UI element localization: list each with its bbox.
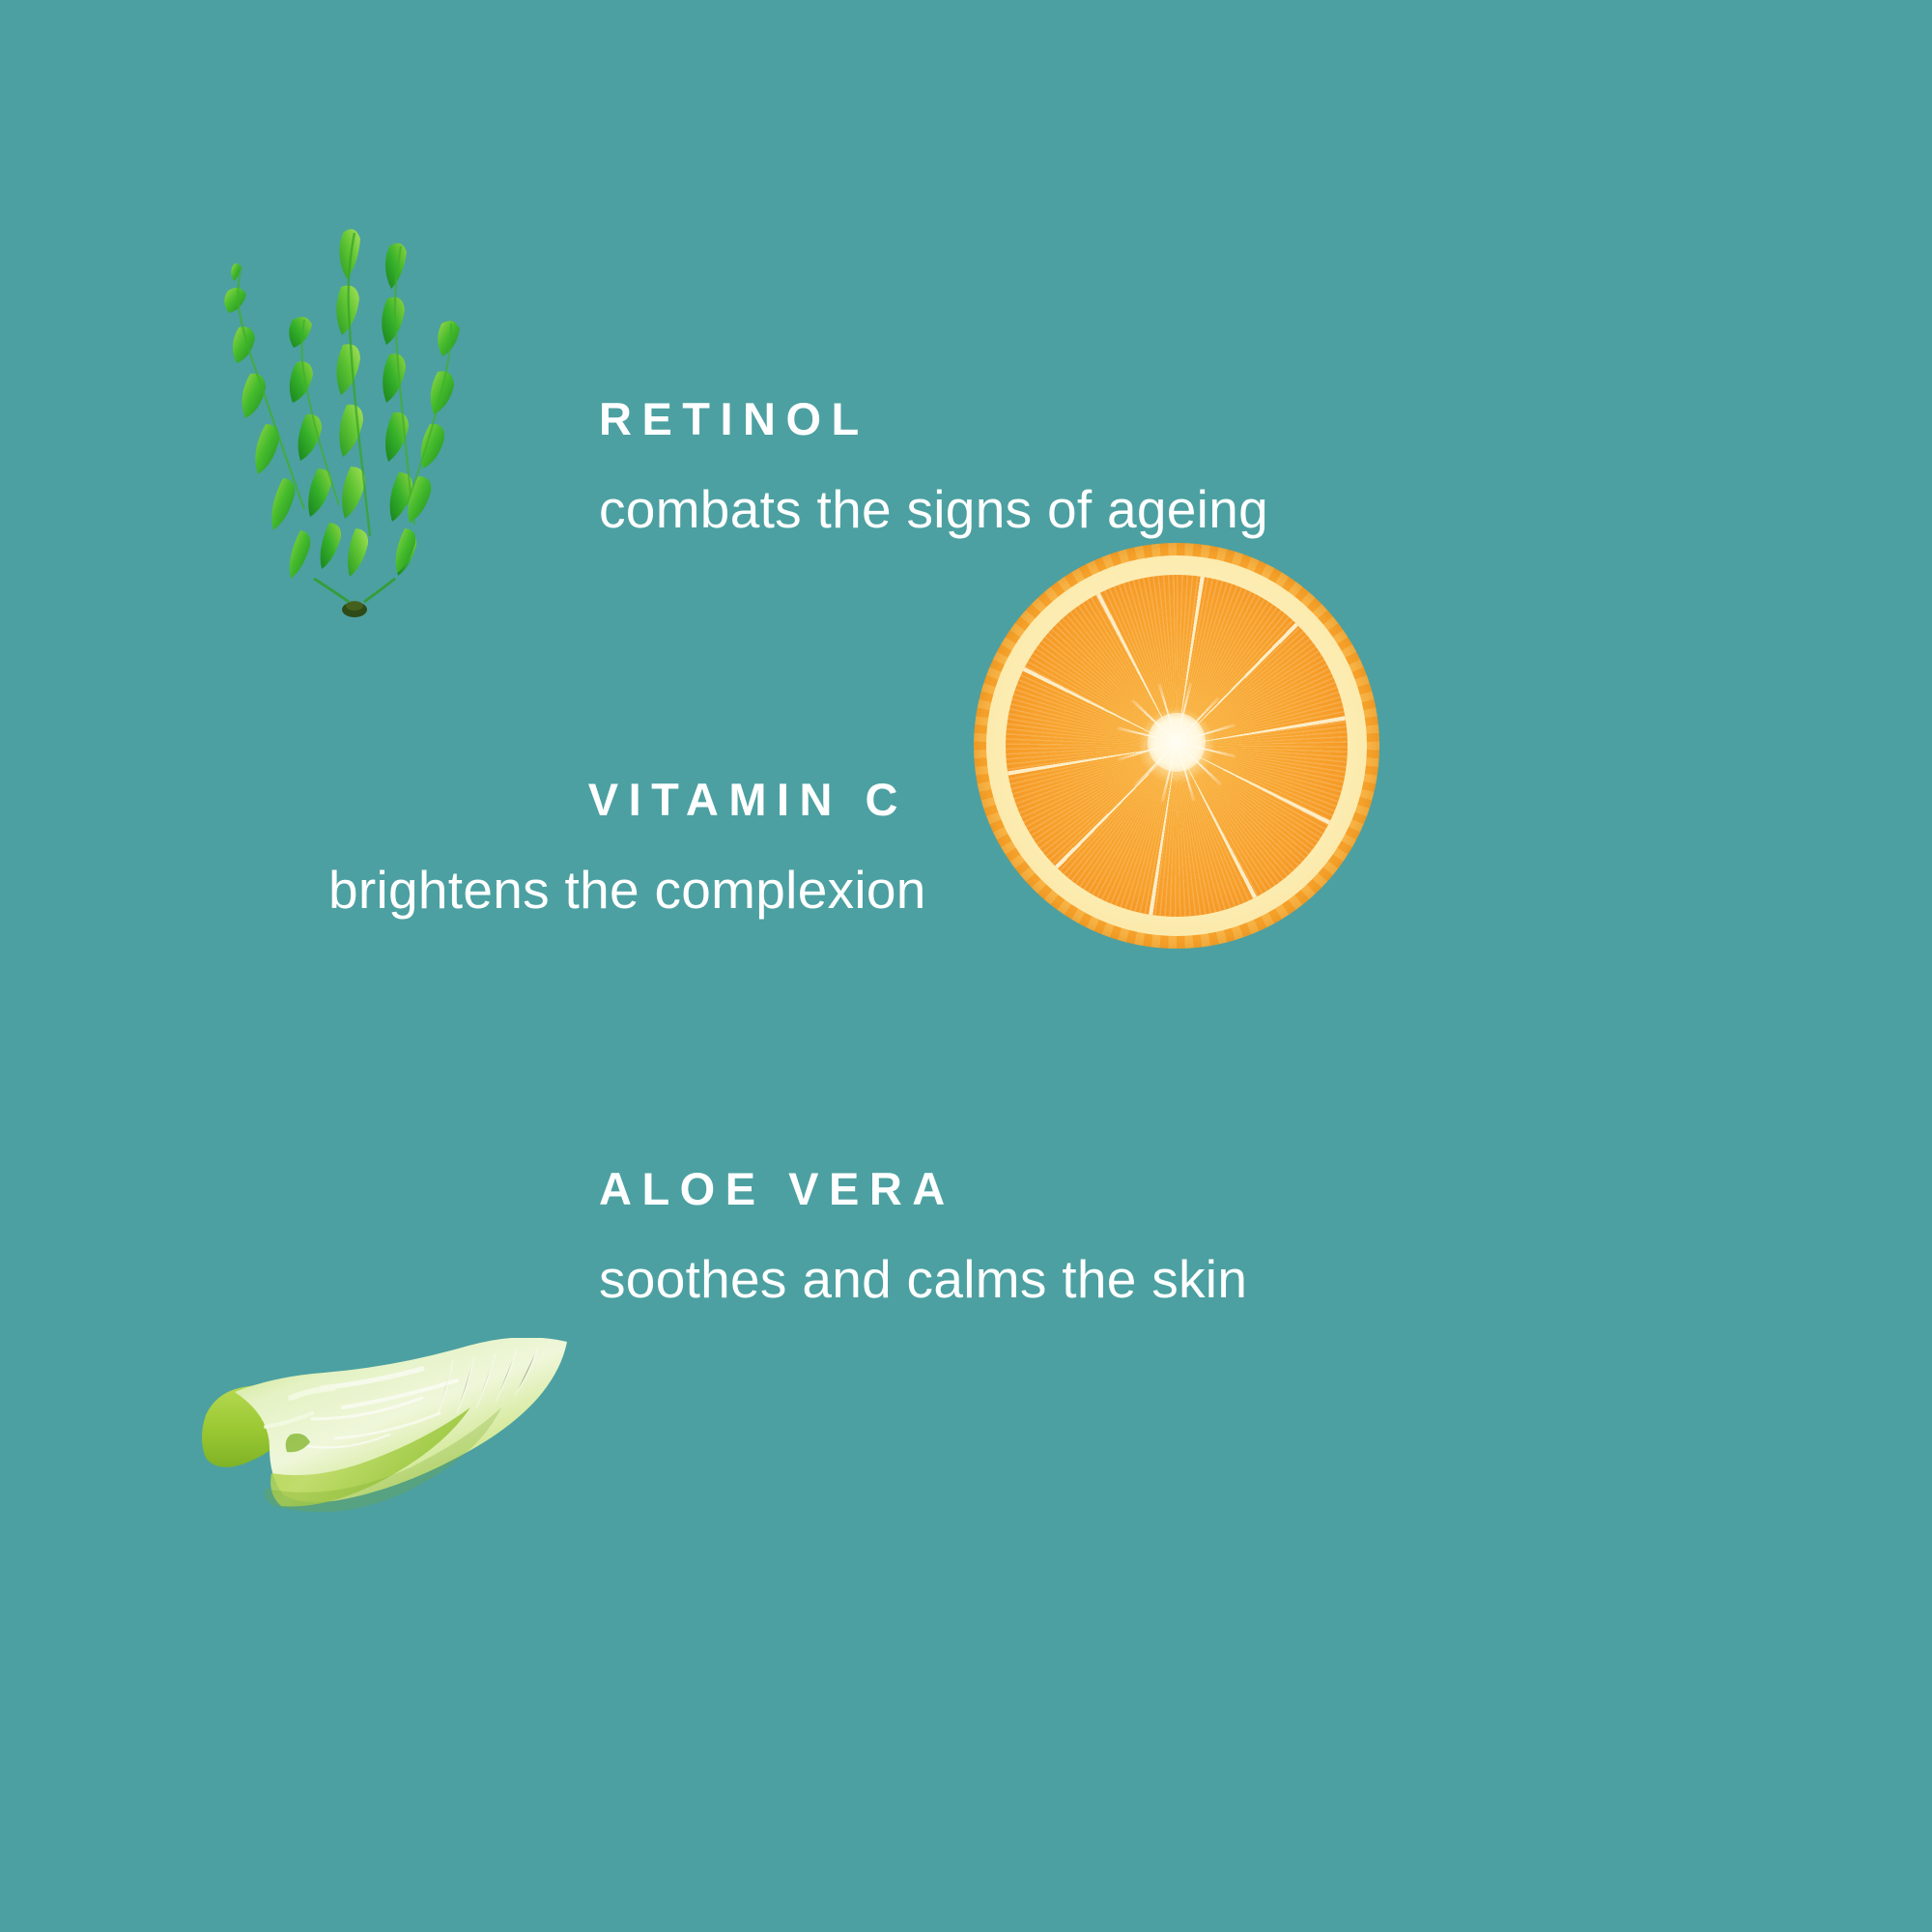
seaweed-illustration xyxy=(188,208,507,633)
orange-flesh xyxy=(1006,575,1348,917)
ingredient-text-aloe-vera: ALOE VERA soothes and calms the skin xyxy=(599,1164,1247,1312)
ingredient-description-aloe-vera: soothes and calms the skin xyxy=(599,1246,1247,1313)
ingredient-description-vitamin-c: brightens the complexion xyxy=(328,857,908,923)
orange-slice-illustration xyxy=(974,543,1379,949)
ingredient-title-vitamin-c: VITAMIN C xyxy=(328,775,908,825)
ingredient-title-retinol: RETINOL xyxy=(599,394,1268,444)
ingredient-description-retinol: combats the signs of ageing xyxy=(599,476,1268,543)
orange-core xyxy=(1148,713,1206,771)
ingredients-poster: RETINOL combats the signs of ageing VITA… xyxy=(0,0,1932,1932)
ingredient-title-aloe-vera: ALOE VERA xyxy=(599,1164,1247,1214)
aloe-vera-slice-illustration xyxy=(198,1338,575,1531)
ingredient-text-vitamin-c: VITAMIN C brightens the complexion xyxy=(328,775,908,923)
ingredient-text-retinol: RETINOL combats the signs of ageing xyxy=(599,394,1268,542)
